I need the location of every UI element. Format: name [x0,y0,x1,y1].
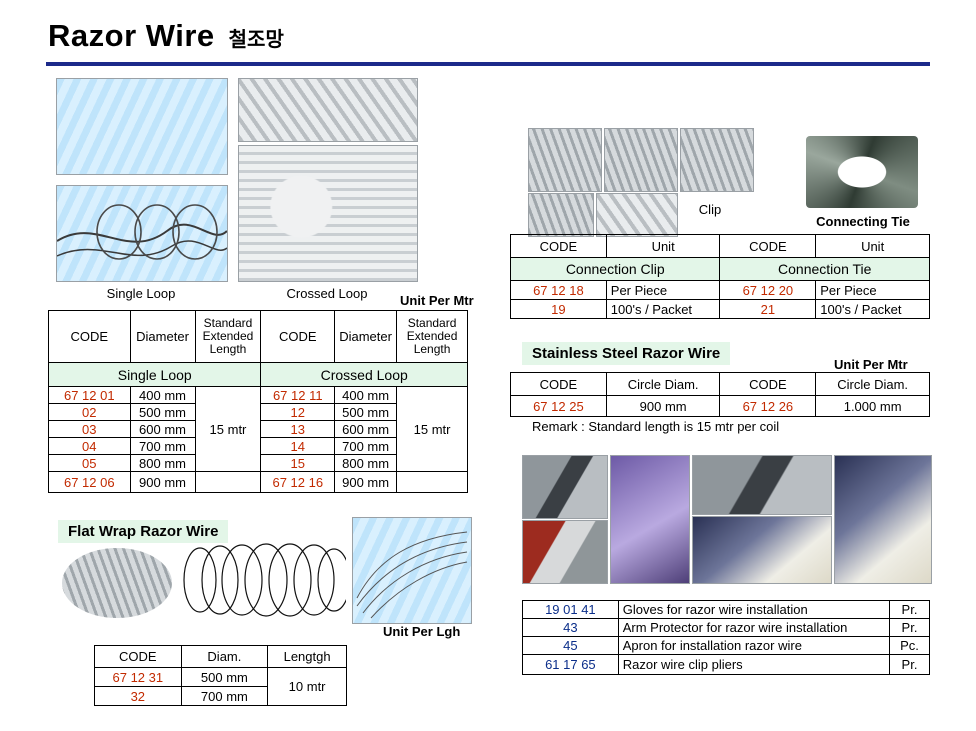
flat-wrap-wire-sketch [353,518,471,623]
diam-cell: 700 mm [181,687,268,706]
photo-clip-gun [522,455,608,519]
code-cell: 67 12 16 [261,472,335,493]
stainless-remark: Remark : Standard length is 15 mtr per c… [532,419,779,434]
caption-clip: Clip [680,202,740,217]
code-cell: 45 [523,637,619,655]
photo-connecting-tie [806,136,918,208]
header-circle-diam-left: Circle Diam. [606,373,720,396]
photo-flat-wrap-ball [62,548,172,618]
code-cell: 67 12 31 [95,668,182,687]
table-row: 19 100's / Packet 21 100's / Packet [511,300,930,319]
title-english: Razor Wire [48,18,215,54]
unit-cell: Pr. [890,601,930,619]
table-row: 45 Apron for installation razor wire Pc. [523,637,930,655]
length-left: 15 mtr [195,387,261,472]
label-unit-per-mtr-left: Unit Per Mtr [400,293,474,308]
table-row: 43 Arm Protector for razor wire installa… [523,619,930,637]
photo-clip-2 [604,128,678,192]
code-cell: 12 [261,404,335,421]
table-row: 67 12 31 500 mm 10 mtr [95,668,347,687]
code-cell: 14 [261,438,335,455]
header-diameter-left: Diameter [130,311,195,363]
label-unit-per-mtr-right: Unit Per Mtr [834,357,908,372]
header-diam: Diam. [181,646,268,668]
code-cell: 67 12 01 [49,387,131,404]
caption-crossed-loop: Crossed Loop [238,286,416,301]
diameter-cell: 600 mm [130,421,195,438]
table-row: 67 12 25 900 mm 67 12 26 1.000 mm [511,396,930,417]
caption-connecting-tie: Connecting Tie [800,214,926,229]
header-code-right: CODE [261,311,335,363]
code-cell: 15 [261,455,335,472]
diameter-cell: 800 mm [130,455,195,472]
diameter-cell: 900 mm [335,472,397,493]
code-cell: 05 [49,455,131,472]
table-row: 67 12 06 900 mm 67 12 16 900 mm [49,472,468,493]
stainless-table: CODE Circle Diam. CODE Circle Diam. 67 1… [510,372,930,417]
photo-clip-4 [528,193,594,237]
connection-header-row: CODE Unit CODE Unit [511,235,930,258]
header-code: CODE [95,646,182,668]
title-korean: 철조망 [229,23,284,52]
photo-razor-wire-closeup [238,78,418,142]
diameter-cell: 900 mm [130,472,195,493]
code-cell: 43 [523,619,619,637]
code-cell: 19 [511,300,607,319]
unit-cell: Per Piece [816,281,930,300]
unit-cell: 100's / Packet [606,300,720,319]
connection-group-row: Connection Clip Connection Tie [511,258,930,281]
diameter-cell: 800 mm [335,455,397,472]
razor-wire-table: CODE Diameter Standard Extended Length C… [48,310,468,493]
stainless-header-row: CODE Circle Diam. CODE Circle Diam. [511,373,930,396]
code-cell: 02 [49,404,131,421]
diameter-cell: 400 mm [130,387,195,404]
photo-razor-wire-blue-2 [56,185,228,282]
code-cell: 67 12 11 [261,387,335,404]
header-rule [46,62,930,66]
diameter-cell: 500 mm [335,404,397,421]
diam-cell: 900 mm [606,396,720,417]
code-cell: 19 01 41 [523,601,619,619]
code-cell: 67 12 18 [511,281,607,300]
diameter-cell: 700 mm [130,438,195,455]
group-connection-clip: Connection Clip [511,258,720,281]
code-cell: 67 12 20 [720,281,816,300]
empty-cell [397,472,468,493]
unit-cell: 100's / Packet [816,300,930,319]
diam-cell: 1.000 mm [816,396,930,417]
table-group-row: Single Loop Crossed Loop [49,363,468,387]
header-unit-right: Unit [816,235,930,258]
header-code-right: CODE [720,373,816,396]
catalog-page: Razor Wire 철조망 Single Loop Crossed Loop … [0,0,976,731]
length-cell: 10 mtr [268,668,347,706]
label-stainless-steel-razor-wire: Stainless Steel Razor Wire [522,342,730,365]
header-code-left: CODE [511,373,607,396]
diameter-cell: 500 mm [130,404,195,421]
photo-flat-wrap-installed [352,517,472,624]
header-length: Lengtgh [268,646,347,668]
photo-pliers-tool [692,455,832,515]
header-circle-diam-right: Circle Diam. [816,373,930,396]
unit-cell: Per Piece [606,281,720,300]
flat-wrap-coil-sketch [176,540,346,620]
photo-razor-wire-blue [56,78,228,175]
diameter-cell: 400 mm [335,387,397,404]
table-header-row: CODE Diameter Standard Extended Length C… [49,311,468,363]
unit-cell: Pc. [890,637,930,655]
code-cell: 13 [261,421,335,438]
group-crossed-loop: Crossed Loop [261,363,468,387]
photo-clip-3 [680,128,754,192]
photo-clip-1 [528,128,602,192]
flat-wrap-table: CODE Diam. Lengtgh 67 12 31 500 mm 10 mt… [94,645,347,706]
header-code-left: CODE [511,235,607,258]
code-cell: 32 [95,687,182,706]
photo-arm-protector [692,516,832,584]
header-diameter-right: Diameter [335,311,397,363]
length-right: 15 mtr [397,387,468,472]
table-row: 61 17 65 Razor wire clip pliers Pr. [523,655,930,675]
table-row: 67 12 01 400 mm 15 mtr 67 12 11 400 mm 1… [49,387,468,404]
header-code-right: CODE [720,235,816,258]
table-row: 67 12 18 Per Piece 67 12 20 Per Piece [511,281,930,300]
photo-clip-5 [596,193,678,237]
photo-apron [610,455,690,584]
description-cell: Arm Protector for razor wire installatio… [618,619,889,637]
group-single-loop: Single Loop [49,363,261,387]
photo-pliers-red [522,520,608,584]
header-std-length-left: Standard Extended Length [195,311,261,363]
diam-cell: 500 mm [181,668,268,687]
accessories-table: 19 01 41 Gloves for razor wire installat… [522,600,930,675]
connection-table: CODE Unit CODE Unit Connection Clip Conn… [510,234,930,319]
unit-cell: Pr. [890,619,930,637]
group-connection-tie: Connection Tie [720,258,930,281]
diameter-cell: 700 mm [335,438,397,455]
code-cell: 21 [720,300,816,319]
header-std-length-right: Standard Extended Length [397,311,468,363]
diameter-cell: 600 mm [335,421,397,438]
description-cell: Apron for installation razor wire [618,637,889,655]
code-cell: 61 17 65 [523,655,619,675]
caption-single-loop: Single Loop [56,286,226,301]
label-unit-per-lgh: Unit Per Lgh [383,624,460,639]
empty-cell [195,472,261,493]
unit-cell: Pr. [890,655,930,675]
header-unit-left: Unit [606,235,720,258]
description-cell: Gloves for razor wire installation [618,601,889,619]
code-cell: 67 12 25 [511,396,607,417]
barbed-wire-sketch [57,186,227,281]
description-cell: Razor wire clip pliers [618,655,889,675]
header-code-left: CODE [49,311,131,363]
flat-wrap-header-row: CODE Diam. Lengtgh [95,646,347,668]
code-cell: 04 [49,438,131,455]
code-cell: 67 12 26 [720,396,816,417]
photo-gloves [834,455,932,584]
code-cell: 67 12 06 [49,472,131,493]
code-cell: 03 [49,421,131,438]
page-title: Razor Wire 철조망 [48,18,284,54]
table-row: 19 01 41 Gloves for razor wire installat… [523,601,930,619]
photo-crossed-loop-coil [238,145,418,282]
